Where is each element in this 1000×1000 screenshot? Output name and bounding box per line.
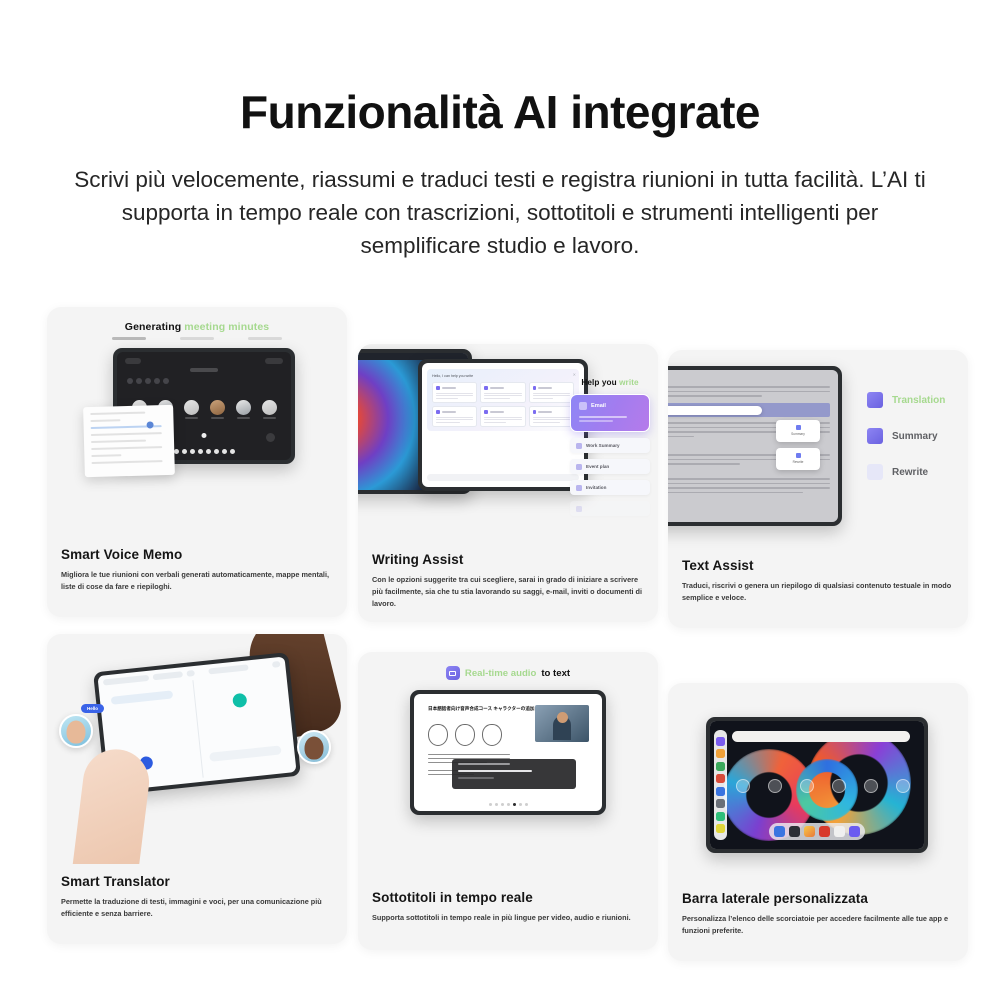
action-chip-rewrite[interactable]: Rewrite	[776, 448, 820, 470]
feature-card-text-assist[interactable]: Summary Rewrite Translation Summary	[668, 350, 968, 628]
tab-indicator	[248, 337, 282, 340]
card-text-voice-memo: Smart Voice Memo Migliora le tue riunion…	[61, 547, 335, 593]
menu-item-rewrite[interactable]: Rewrite	[867, 464, 961, 480]
participant	[236, 400, 251, 419]
dock-app-icon[interactable]	[774, 826, 785, 837]
text-input-bar[interactable]	[427, 474, 579, 481]
tablet-device-sidebar	[706, 717, 928, 853]
invitation-icon	[576, 485, 582, 491]
card-description: Personalizza l’elenco delle scorciatoie …	[682, 913, 956, 937]
panel-option[interactable]	[529, 406, 574, 427]
caption-text-line	[458, 770, 532, 772]
card-media-sottotitoli: Real-time audio to text 日本語話者向け音声合成コース キ…	[358, 652, 658, 872]
card-text-writing-assist: Writing Assist Con le opzioni suggerite …	[372, 552, 646, 609]
summary-icon	[867, 428, 883, 444]
overlay-heading-accent: Real-time audio	[465, 668, 536, 679]
home-dock	[769, 823, 865, 840]
avatar-speaker-right	[297, 730, 331, 764]
app-icon[interactable]	[736, 779, 750, 793]
app-icon[interactable]	[800, 779, 814, 793]
dock-app-icon	[198, 449, 203, 454]
avatar	[236, 400, 251, 415]
participant	[184, 400, 199, 419]
card-title: Smart Translator	[61, 874, 335, 889]
voice-memo-tabs	[47, 337, 347, 340]
feature-card-sottotitoli[interactable]: Real-time audio to text 日本語話者向け音声合成コース キ…	[358, 652, 658, 950]
face	[305, 736, 324, 759]
option-card-work-summary[interactable]: Work Summary	[570, 438, 650, 453]
toolbar-segment[interactable]	[272, 661, 281, 668]
page-dot[interactable]	[519, 803, 522, 806]
option-icon	[436, 386, 440, 390]
tablet-screen-sidebar	[710, 721, 924, 849]
meeting-topbar-right	[265, 358, 283, 364]
dock-app-icon	[182, 449, 187, 454]
app-icon[interactable]	[768, 779, 782, 793]
card-media-voice-memo: Generating meeting minutes	[47, 307, 347, 537]
action-chip-summary[interactable]: Summary	[776, 420, 820, 442]
ai-search-bar[interactable]	[668, 406, 762, 415]
sidebar-app-icon[interactable]	[716, 787, 725, 796]
option-icon	[533, 386, 537, 390]
dock-app-icon	[222, 449, 227, 454]
card-description: Supporta sottotitoli in tempo reale in p…	[372, 912, 646, 924]
card-title: Barra laterale personalizzata	[682, 891, 956, 906]
meeting-title-placeholder	[190, 368, 218, 372]
tablet-screen-document: Summary Rewrite	[668, 370, 838, 522]
feature-card-smart-voice-memo[interactable]: Generating meeting minutes	[47, 307, 347, 617]
meeting-topbar-left	[125, 358, 141, 364]
mail-icon	[579, 402, 587, 410]
toolbar-segment[interactable]	[208, 664, 248, 674]
dock-app-icon[interactable]	[834, 826, 845, 837]
person-head	[557, 712, 568, 723]
menu-item-label: Rewrite	[892, 467, 928, 478]
translation-icon	[867, 392, 883, 408]
card-text-text-assist: Text Assist Traduci, riscrivi o genera u…	[682, 558, 956, 604]
app-icon[interactable]	[832, 779, 846, 793]
sidebar-app-icon[interactable]	[716, 737, 725, 746]
hand-left	[67, 746, 153, 864]
card-media-writing-assist: Hello, I can help you write ✕	[358, 344, 658, 544]
avatar	[184, 400, 199, 415]
sidebar-app-icon[interactable]	[716, 749, 725, 758]
home-app-row	[736, 779, 910, 793]
panel-option-grid	[432, 382, 574, 427]
control-dot-icon	[154, 378, 160, 384]
page-dots	[414, 803, 602, 806]
search-bar[interactable]	[732, 731, 910, 742]
card-title: Text Assist	[682, 558, 956, 573]
option-label: Email	[591, 403, 606, 409]
language-dropdown[interactable]	[111, 690, 173, 704]
sidebar-app-icon[interactable]	[716, 824, 725, 833]
translator-target-pane	[192, 671, 291, 778]
caption-text-line	[458, 777, 494, 779]
menu-item-translation[interactable]: Translation	[867, 392, 961, 408]
dock-app-icon[interactable]	[789, 826, 800, 837]
card-media-text-assist: Summary Rewrite Translation Summary	[668, 350, 968, 550]
option-card-email[interactable]: Email	[570, 394, 650, 432]
caption-speaker-line	[458, 763, 510, 765]
app-icon[interactable]	[896, 779, 910, 793]
slide-sketches	[428, 724, 502, 746]
menu-item-summary[interactable]: Summary	[867, 428, 961, 444]
rewrite-icon	[867, 464, 883, 480]
overlay-heading-dark: to text	[541, 668, 570, 679]
menu-item-label: Translation	[892, 395, 945, 406]
card-title: Writing Assist	[372, 552, 646, 567]
dock-app-icon[interactable]	[819, 826, 830, 837]
dim-overlay	[668, 370, 838, 522]
meeting-minutes-note-card	[83, 405, 175, 477]
rewrite-icon	[796, 453, 801, 458]
overlay-heading: Help you write	[570, 378, 650, 387]
sketch-face-icon	[482, 724, 502, 746]
overlay-heading-accent: write	[619, 378, 639, 387]
panel-option[interactable]	[432, 406, 477, 427]
page-dot[interactable]	[489, 803, 492, 806]
toolbar-segment[interactable]	[186, 670, 195, 677]
card-title: Smart Voice Memo	[61, 547, 335, 562]
record-icon	[146, 421, 153, 428]
panel-option[interactable]	[480, 406, 525, 427]
option-icon	[436, 410, 440, 414]
sketch-face-icon	[455, 724, 475, 746]
overlay-heading-dark: Generating	[125, 321, 181, 333]
option-card-invitation[interactable]: Invitation	[570, 480, 650, 495]
tablet-device-writing: Hello, I can help you write ✕	[418, 359, 588, 491]
option-card-event-plan[interactable]: Event plan	[570, 459, 650, 474]
toolbar-segment[interactable]	[103, 675, 149, 686]
summary-icon	[796, 425, 801, 430]
dock-app-icon	[206, 449, 211, 454]
option-label: Event plan	[586, 464, 609, 469]
speech-bubble: Hello	[81, 704, 104, 713]
option-icon	[484, 410, 488, 414]
face	[67, 720, 86, 743]
page-dot[interactable]	[495, 803, 498, 806]
writing-assist-panel: Hello, I can help you write	[427, 369, 579, 431]
dock-app-icon	[230, 449, 235, 454]
speaker-button[interactable]	[232, 693, 247, 708]
voice-memo-overlay-heading: Generating meeting minutes	[47, 321, 347, 333]
toolbar-segment[interactable]	[153, 671, 183, 680]
dock-app-icon	[190, 449, 195, 454]
captions-icon	[446, 666, 460, 680]
app-icon[interactable]	[864, 779, 878, 793]
feature-card-barra-laterale[interactable]: Barra laterale personalizzata Personaliz…	[668, 683, 968, 961]
tab-indicator	[180, 337, 214, 340]
live-caption-box	[452, 759, 576, 789]
overlay-heading-dark: Help you	[581, 378, 616, 387]
sidebar-app-icon[interactable]	[716, 799, 725, 808]
card-title: Sottotitoli in tempo reale	[372, 890, 646, 905]
page-dot[interactable]	[501, 803, 504, 806]
feature-card-grid: Generating meeting minutes	[0, 0, 1000, 1000]
overlay-heading-accent: meeting minutes	[184, 321, 269, 333]
avatar-speaker-left	[59, 714, 93, 748]
custom-sidebar[interactable]	[714, 730, 727, 840]
control-dot-icon	[136, 378, 142, 384]
avatar	[210, 400, 225, 415]
subtitles-overlay-heading: Real-time audio to text	[358, 666, 658, 680]
card-media-smart-translator: Hello	[47, 634, 347, 864]
feature-card-smart-translator[interactable]: Hello Smart Translator Permette la tradu…	[47, 634, 347, 944]
option-label: Work Summary	[586, 443, 620, 448]
more-icon	[576, 506, 582, 512]
page-dot-active[interactable]	[513, 803, 516, 806]
card-description: Traduci, riscrivi o genera un riepilogo …	[682, 580, 956, 604]
panel-option[interactable]	[529, 382, 574, 403]
card-text-smart-translator: Smart Translator Permette la traduzione …	[61, 874, 335, 920]
sidebar-app-icon[interactable]	[716, 762, 725, 771]
card-description: Migliora le tue riunioni con verbali gen…	[61, 569, 335, 593]
card-text-barra-laterale: Barra laterale personalizzata Personaliz…	[682, 891, 956, 937]
option-icon	[533, 410, 537, 414]
sidebar-app-icon[interactable]	[716, 774, 725, 783]
tablet-device-document: Summary Rewrite	[668, 366, 842, 526]
tab-indicator	[112, 337, 146, 340]
dock-app-icon[interactable]	[804, 826, 815, 837]
card-text-sottotitoli: Sottotitoli in tempo reale Supporta sott…	[372, 890, 646, 924]
translate-action-button[interactable]	[209, 745, 282, 762]
page-dot[interactable]	[507, 803, 510, 806]
meeting-action-icon	[266, 433, 275, 442]
document-icon	[576, 443, 582, 449]
dock-app-icon	[214, 449, 219, 454]
panel-greeting: Hello, I can help you write	[432, 374, 574, 378]
feature-card-writing-assist[interactable]: Hello, I can help you write ✕	[358, 344, 658, 622]
slide-heading: 日本語話者向け音声合成コース キャラクターの追加	[428, 706, 535, 713]
text-assist-menu: Translation Summary Rewrite	[867, 392, 961, 500]
option-card-more[interactable]	[570, 501, 650, 516]
panel-option[interactable]	[432, 382, 477, 403]
sketch-face-icon	[428, 724, 448, 746]
video-thumbnail	[535, 705, 589, 742]
participant	[210, 400, 225, 419]
participant	[262, 400, 277, 419]
upload-icon	[202, 433, 207, 438]
calendar-icon	[576, 464, 582, 470]
control-dot-icon	[145, 378, 151, 384]
tablet-screen-writing: Hello, I can help you write ✕	[422, 363, 584, 487]
avatar	[262, 400, 277, 415]
option-icon	[484, 386, 488, 390]
menu-item-label: Summary	[892, 431, 938, 442]
control-dot-icon	[163, 378, 169, 384]
tablet-device-subtitles: 日本語話者向け音声合成コース キャラクターの追加	[410, 690, 606, 815]
tablet-screen-subtitles: 日本語話者向け音声合成コース キャラクターの追加	[414, 694, 602, 811]
page-dot[interactable]	[525, 803, 528, 806]
card-media-barra-laterale	[668, 683, 968, 883]
close-icon[interactable]: ✕	[573, 372, 576, 377]
dock-app-icon[interactable]	[849, 826, 860, 837]
meeting-controls	[127, 378, 169, 384]
control-dot-icon	[127, 378, 133, 384]
panel-option[interactable]	[480, 382, 525, 403]
help-you-write-overlay: Help you write Email Work Summary	[570, 378, 650, 516]
option-label: Invitation	[586, 485, 606, 490]
sidebar-app-icon[interactable]	[716, 812, 725, 821]
card-description: Con le opzioni suggerite tra cui sceglie…	[372, 574, 646, 609]
card-description: Permette la traduzione di testi, immagin…	[61, 896, 335, 920]
